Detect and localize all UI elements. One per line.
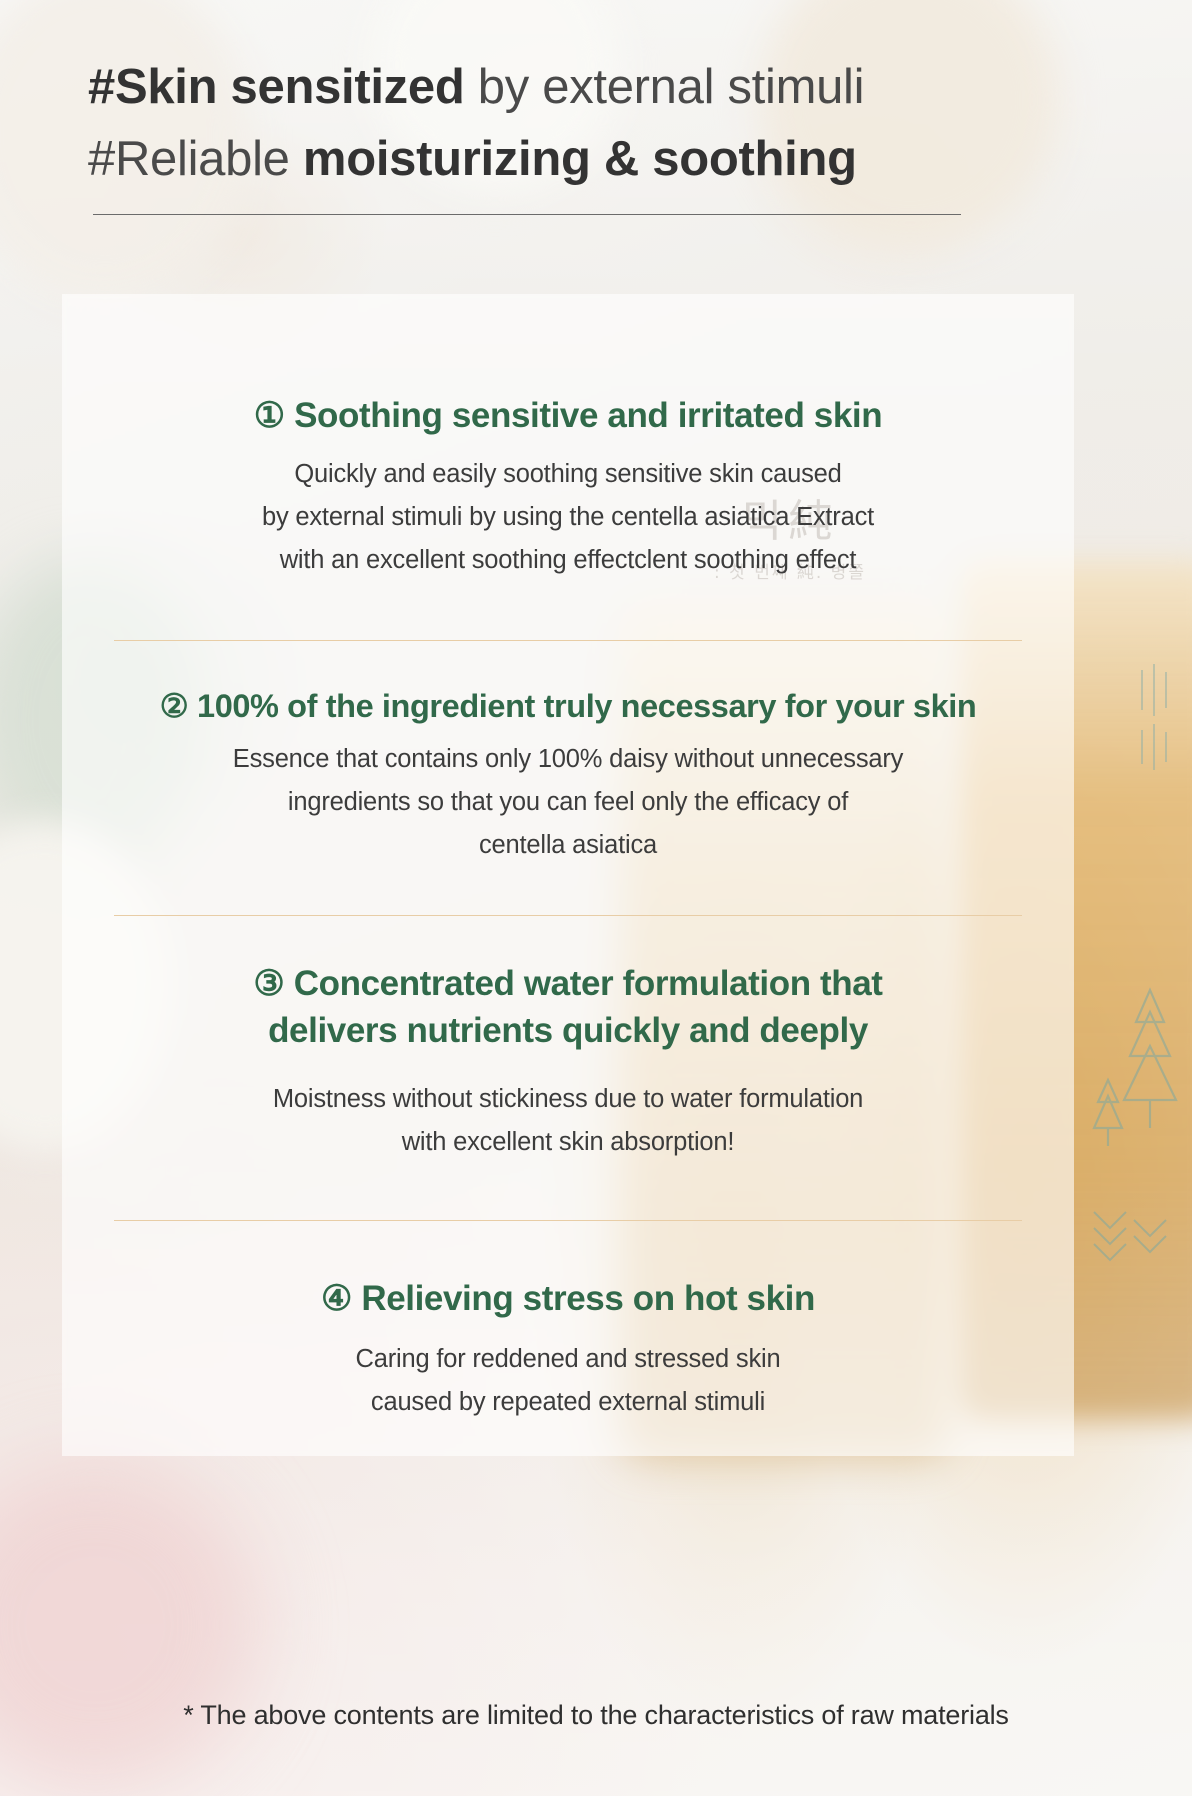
feature-3-body: Moistness without stickiness due to wate… bbox=[62, 1078, 1074, 1164]
feature-4-body: Caring for reddened and stressed skin ca… bbox=[62, 1338, 1074, 1424]
feature-4-title-text: Relieving stress on hot skin bbox=[361, 1279, 815, 1318]
page-header: #Skin sensitized by external stimuli #Re… bbox=[0, 0, 1192, 194]
promo-page: #Skin sensitized by external stimuli #Re… bbox=[0, 0, 1192, 1796]
feature-1-number: ① bbox=[254, 396, 285, 435]
feature-2-number: ② bbox=[160, 688, 189, 724]
feature-4-number: ④ bbox=[321, 1279, 352, 1318]
headline-line-1: #Skin sensitized by external stimuli bbox=[0, 52, 1192, 122]
chevron-ornament-icon bbox=[1084, 1200, 1174, 1290]
header-divider-rule bbox=[93, 214, 961, 215]
wave-lines-icon bbox=[1136, 660, 1184, 780]
feature-2-title-text: 100% of the ingredient truly necessary f… bbox=[197, 688, 976, 724]
feature-list: ① Soothing sensitive and irritated skin … bbox=[62, 294, 1074, 1424]
headline-line-1-bold: #Skin sensitized bbox=[88, 60, 464, 114]
feature-4-title: ④ Relieving stress on hot skin bbox=[62, 1275, 1074, 1322]
pine-tree-icon bbox=[1072, 960, 1192, 1180]
headline-line-2-bold: moisturizing & soothing bbox=[303, 132, 857, 186]
feature-2-title: ② 100% of the ingredient truly necessary… bbox=[62, 683, 1074, 730]
background-pink-flare bbox=[0, 1460, 260, 1790]
feature-1-body: Quickly and easily soothing sensitive sk… bbox=[62, 453, 1074, 582]
feature-1-title-text: Soothing sensitive and irritated skin bbox=[294, 396, 882, 435]
feature-2-body: Essence that contains only 100% daisy wi… bbox=[62, 738, 1074, 867]
feature-item-2: ② 100% of the ingredient truly necessary… bbox=[62, 641, 1074, 867]
feature-1-title: ① Soothing sensitive and irritated skin bbox=[62, 392, 1074, 439]
headline-line-2-regular: #Reliable bbox=[88, 132, 303, 186]
headline-line-2: #Reliable moisturizing & soothing bbox=[0, 124, 1192, 194]
page-footnote: * The above contents are limited to the … bbox=[0, 1700, 1192, 1731]
feature-3-number: ③ bbox=[253, 964, 284, 1003]
feature-3-title-text: Concentrated water formulation that deli… bbox=[268, 964, 882, 1050]
headline-line-1-regular: by external stimuli bbox=[464, 60, 864, 114]
feature-item-3: ③ Concentrated water formulation that de… bbox=[62, 916, 1074, 1164]
feature-item-4: ④ Relieving stress on hot skin Caring fo… bbox=[62, 1221, 1074, 1424]
feature-3-title: ③ Concentrated water formulation that de… bbox=[62, 960, 1074, 1054]
feature-item-1: ① Soothing sensitive and irritated skin … bbox=[62, 294, 1074, 582]
